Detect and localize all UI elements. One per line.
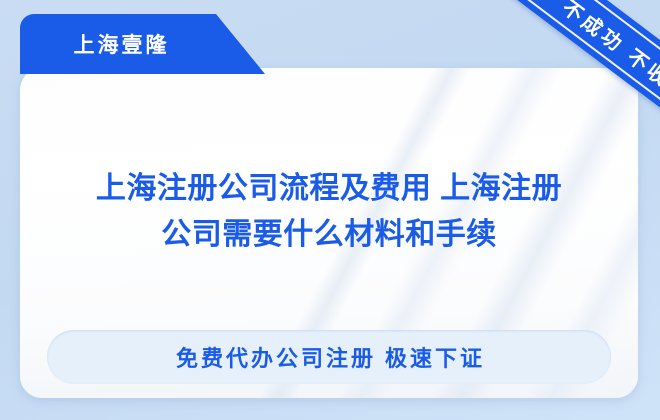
page-title-line-2: 公司需要什么材料和手续 (20, 212, 638, 258)
content-card: 上海注册公司流程及费用 上海注册 公司需要什么材料和手续 免费代办公司注册 极速… (20, 68, 638, 398)
page-title-line-1: 上海注册公司流程及费用 上海注册 (20, 166, 638, 212)
poster-root: 上海注册公司流程及费用 上海注册 公司需要什么材料和手续 免费代办公司注册 极速… (0, 0, 660, 420)
promo-banner[interactable]: 免费代办公司注册 极速下证 (47, 330, 611, 384)
brand-tab (20, 14, 265, 74)
page-title: 上海注册公司流程及费用 上海注册 公司需要什么材料和手续 (20, 166, 638, 258)
promo-banner-label: 免费代办公司注册 极速下证 (173, 341, 485, 373)
